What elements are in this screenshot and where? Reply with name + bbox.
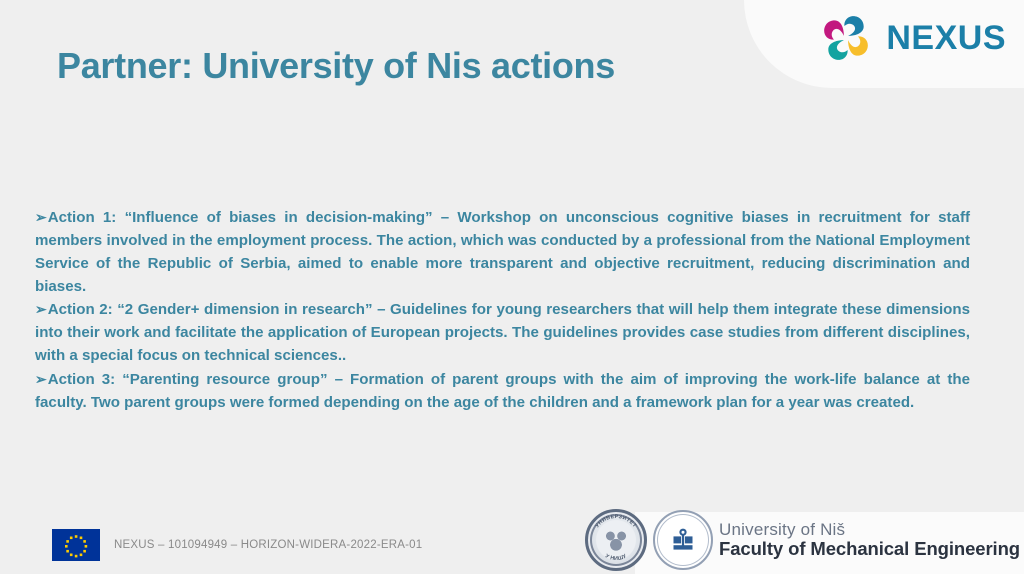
nexus-logo-mark-icon [820,12,872,64]
eu-flag-icon [52,529,100,561]
action-3-text: Action 3: “Parenting resource group” – F… [35,371,970,411]
bullet-arrow-icon: ➢ [35,209,48,225]
nexus-wordmark: NEXUS [886,21,1006,55]
action-1-paragraph: ➢Action 1: “Influence of biases in decis… [35,206,970,298]
page-title: Partner: University of Nis actions [57,45,615,87]
bullet-arrow-icon: ➢ [35,371,48,387]
faculty-name-label: Faculty of Mechanical Engineering [719,539,1020,560]
faculty-seal-emblem [669,526,697,554]
project-code-label: NEXUS – 101094949 – HORIZON-WIDERA-2022-… [114,539,422,551]
action-3-paragraph: ➢Action 3: “Parenting resource group” – … [35,368,970,414]
action-2-paragraph: ➢Action 2: “2 Gender+ dimension in resea… [35,298,970,367]
action-1-text: Action 1: “Influence of biases in decisi… [35,209,970,295]
slide-root: NEXUS Partner: University of Nis actions… [0,0,1024,574]
bullet-arrow-icon: ➢ [35,301,48,317]
body-content: ➢Action 1: “Influence of biases in decis… [35,206,970,414]
action-2-text: Action 2: “2 Gender+ dimension in resear… [35,301,970,364]
svg-text:У НИШУ: У НИШУ [604,553,628,562]
nexus-logo: NEXUS [820,12,1006,64]
university-branding: УНИВЕРЗИТЕТ У НИШУ [585,509,1020,571]
university-name-label: University of Niš [719,520,1020,539]
faculty-seal-icon [653,510,713,570]
footer-left: NEXUS – 101094949 – HORIZON-WIDERA-2022-… [52,529,422,561]
svg-text:УНИВЕРЗИТЕТ: УНИВЕРЗИТЕТ [595,514,638,529]
university-text: University of Niš Faculty of Mechanical … [719,520,1020,560]
university-seal-icon: УНИВЕРЗИТЕТ У НИШУ [585,509,647,571]
